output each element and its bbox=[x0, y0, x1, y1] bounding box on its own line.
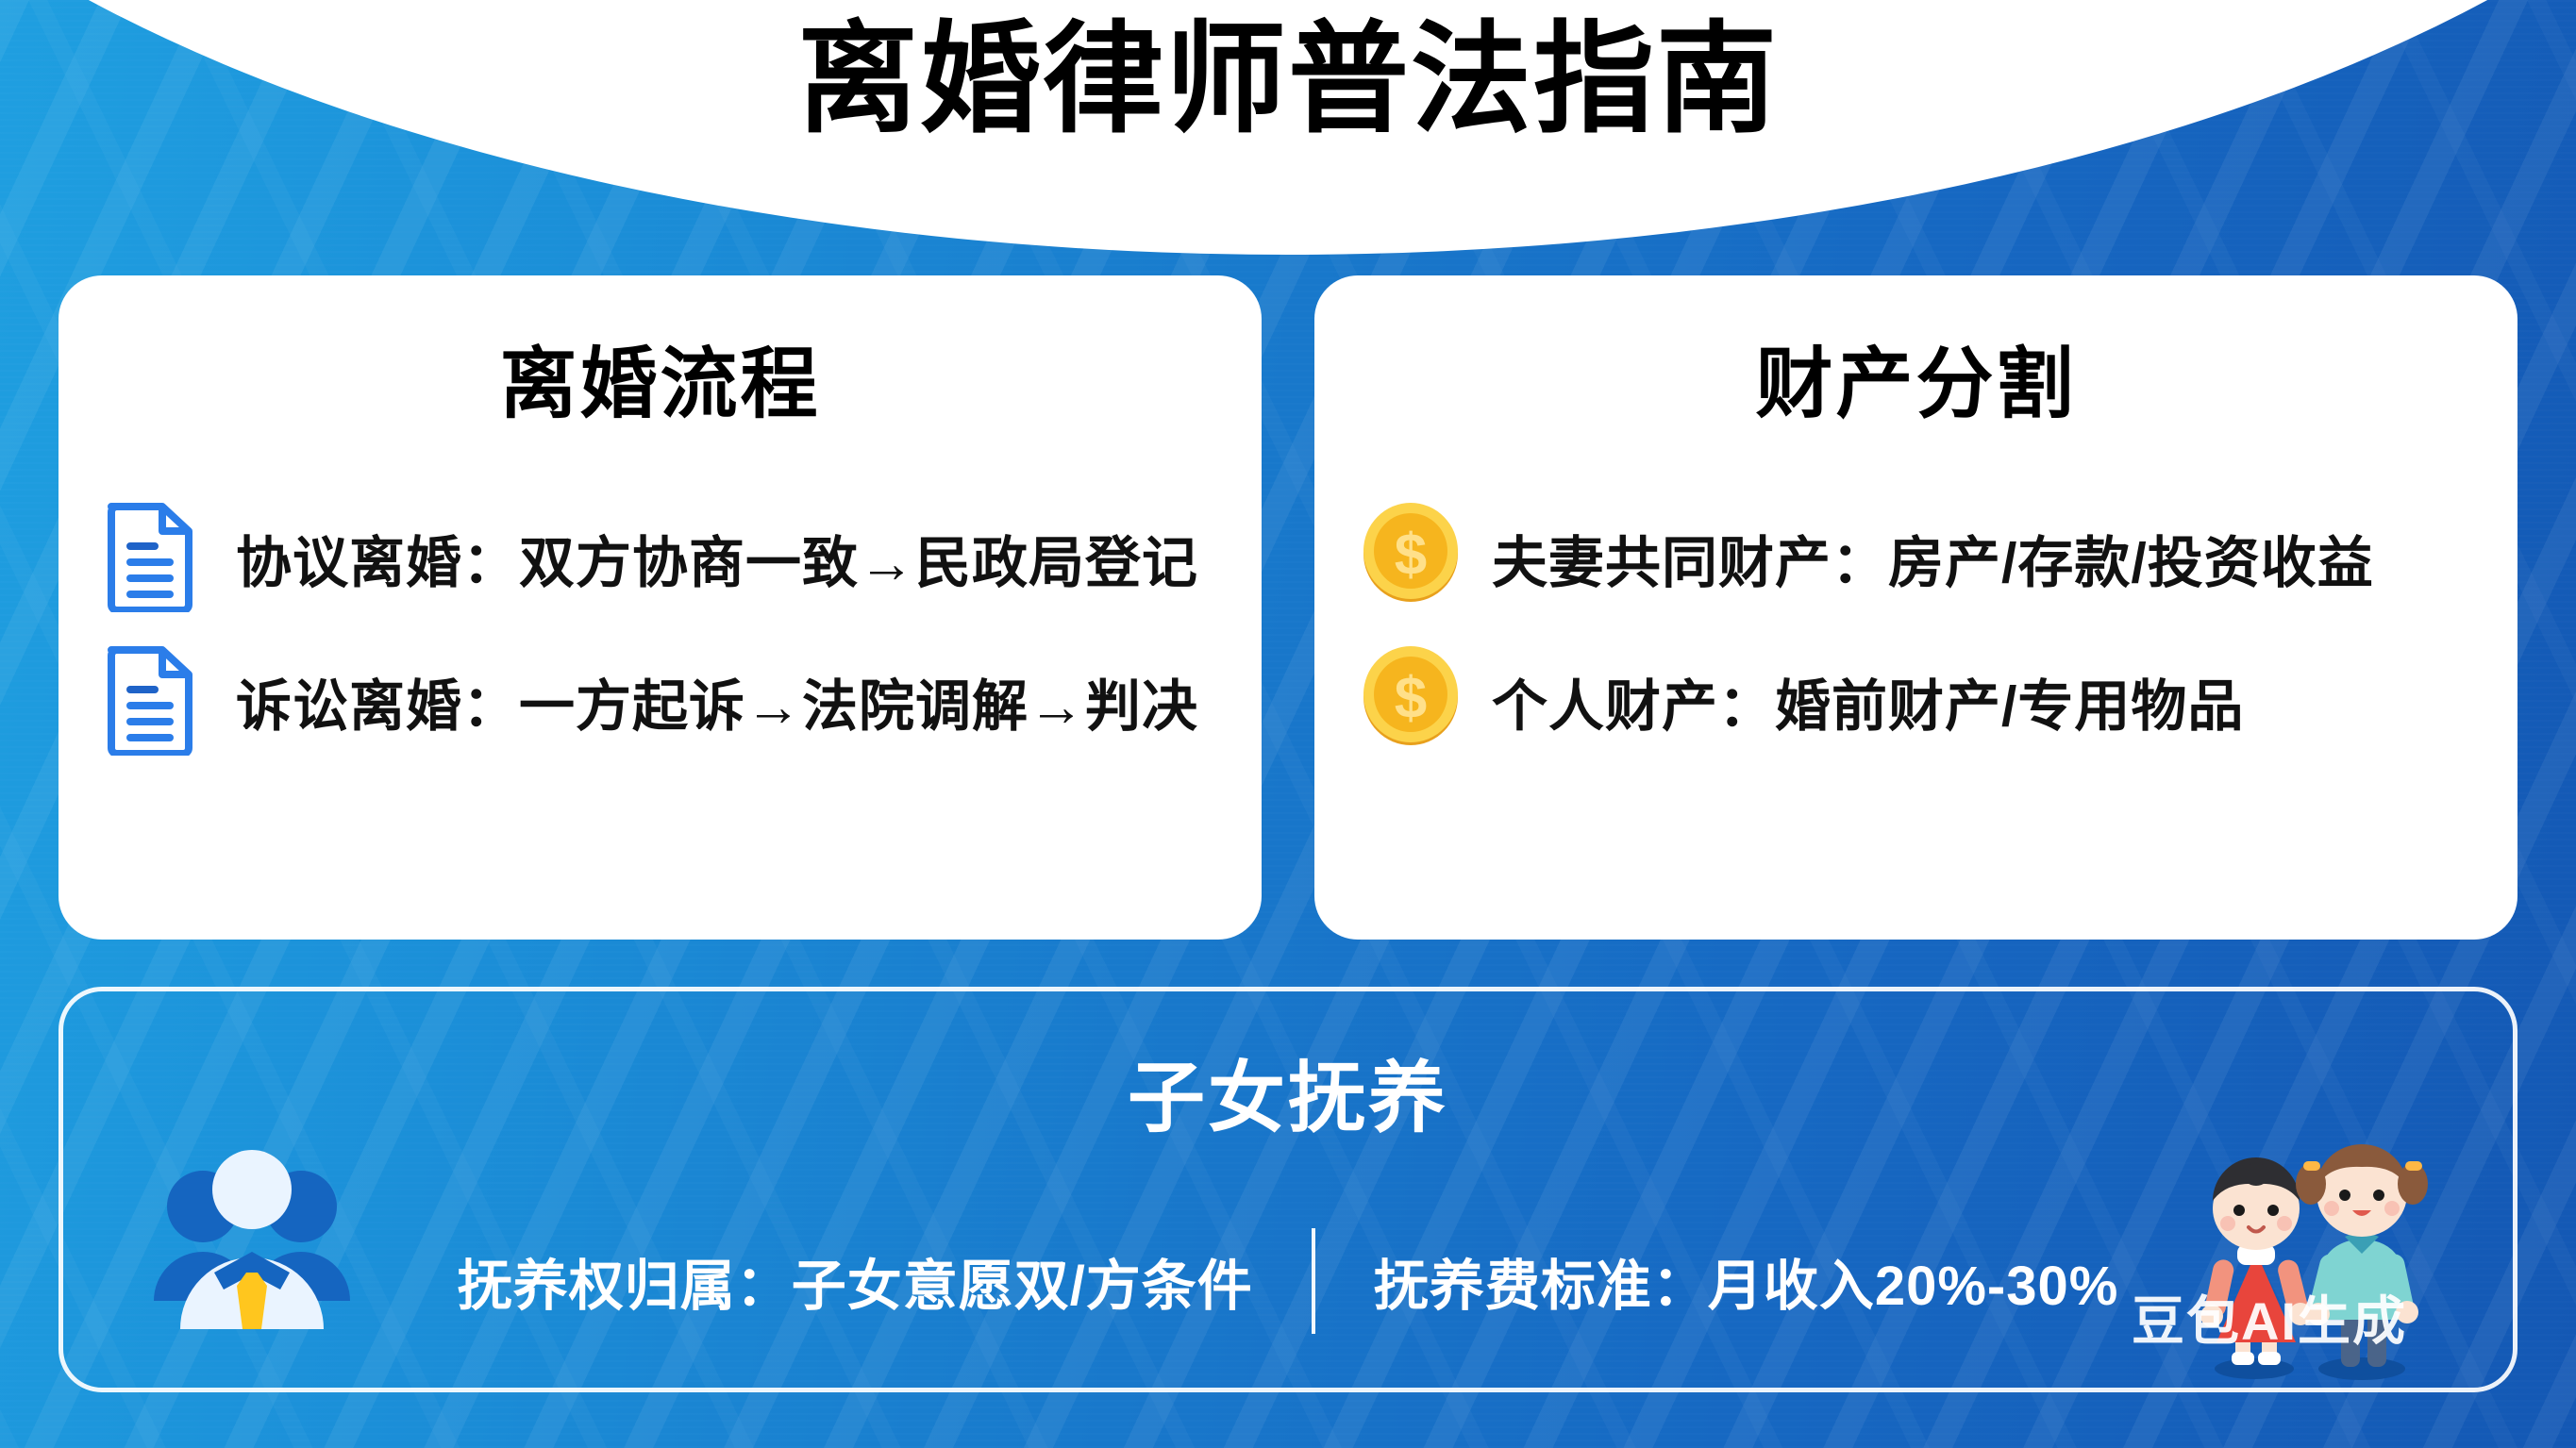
list-item-label: 诉讼离婚：一方起诉→法院调解→判决 bbox=[236, 661, 1198, 741]
coin-icon: $ bbox=[1358, 642, 1460, 759]
list-item-label: 个人财产：婚前财产/专用物品 bbox=[1492, 661, 2244, 741]
document-icon bbox=[102, 499, 204, 616]
coin-icon: $ bbox=[1358, 499, 1460, 616]
list-item: 协议离婚：双方协商一致→民政局登记 bbox=[102, 486, 1218, 629]
card-title: 离婚流程 bbox=[102, 321, 1218, 433]
vertical-divider bbox=[1312, 1228, 1315, 1334]
panel-title: 子女抚养 bbox=[63, 1035, 2513, 1147]
page-title: 离婚律师普法指南 bbox=[0, 6, 2576, 156]
svg-text:$: $ bbox=[1395, 666, 1427, 731]
list-item-label: 抚养费标准：月收入20%-30% bbox=[1374, 1241, 2119, 1321]
list-item-label: 协议离婚：双方协商一致→民政局登记 bbox=[236, 518, 1198, 598]
infographic-poster: 离婚律师普法指南 离婚流程 bbox=[0, 0, 2576, 1448]
cards-container: 离婚流程 协议离婚：双方协商一致→民政局登记 bbox=[59, 275, 2517, 940]
list-item: $ 个人财产：婚前财产/专用物品 bbox=[1358, 629, 2474, 773]
list-item-label: 抚养权归属：子女意愿双/方条件 bbox=[458, 1241, 1253, 1321]
list-item: $ 夫妻共同财产：房产/存款/投资收益 bbox=[1358, 486, 2474, 629]
card-item-list: 协议离婚：双方协商一致→民政局登记 诉讼离婚：一方起诉→法院调解→ bbox=[102, 486, 1218, 773]
list-item-label: 夫妻共同财产：房产/存款/投资收益 bbox=[1492, 518, 2374, 598]
list-item: 诉讼离婚：一方起诉→法院调解→判决 bbox=[102, 629, 1218, 773]
card-title: 财产分割 bbox=[1358, 321, 2474, 433]
svg-text:$: $ bbox=[1395, 523, 1427, 588]
card-property-division: 财产分割 $ 夫妻共同财产：房产/存款/投资收益 bbox=[1314, 275, 2517, 940]
watermark-label: 豆包AI生成 bbox=[2132, 1279, 2407, 1356]
panel-child-custody: 子女抚养 抚养权归属：子女意愿双/方条件 抚养费标准：月收入20%-30% bbox=[59, 987, 2517, 1392]
card-item-list: $ 夫妻共同财产：房产/存款/投资收益 $ 个人财产：婚前财 bbox=[1358, 486, 2474, 773]
card-divorce-process: 离婚流程 协议离婚：双方协商一致→民政局登记 bbox=[59, 275, 1262, 940]
document-icon bbox=[102, 642, 204, 759]
